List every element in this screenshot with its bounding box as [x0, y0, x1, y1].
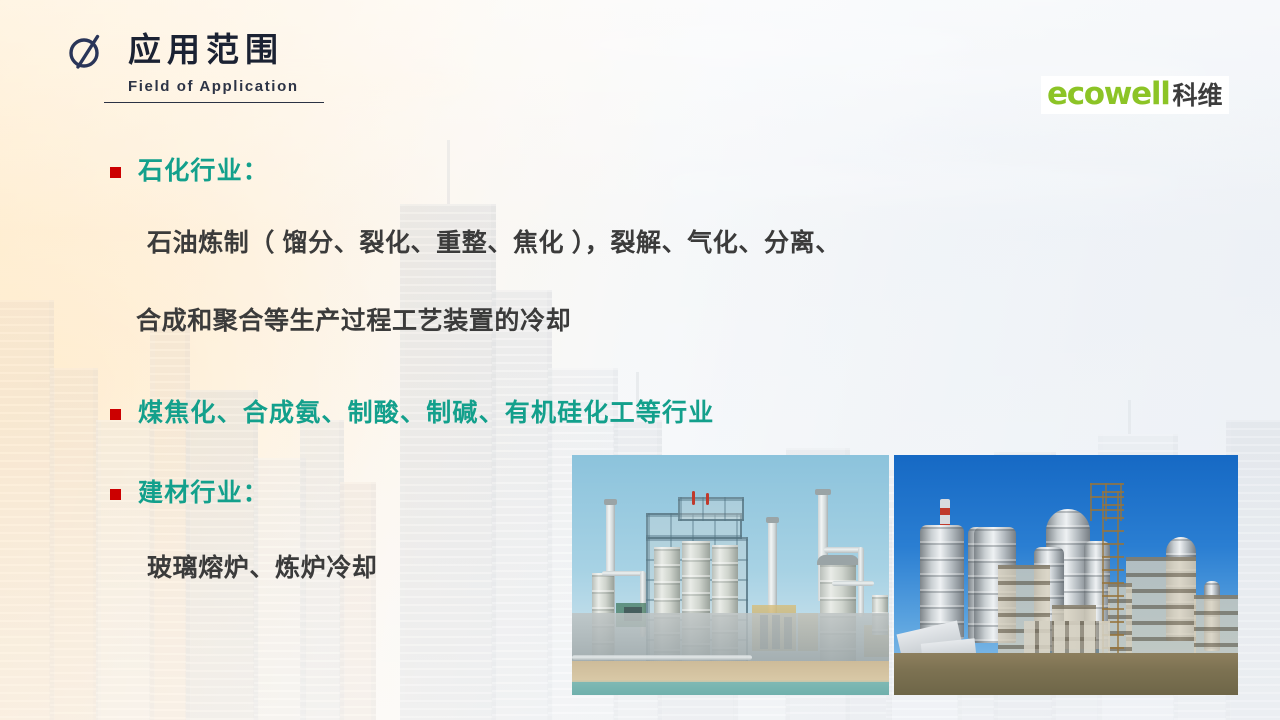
- bullet-square-icon: [110, 167, 121, 178]
- list-item: 玻璃熔炉、炼炉冷却: [147, 553, 377, 583]
- chemical-plant-photo: [894, 455, 1238, 695]
- list-item-label: 建材行业：: [138, 478, 269, 508]
- slide: 应用范围 Field of Application ecowell 科维 石化行…: [0, 0, 1280, 720]
- logo-wordmark: ecowell: [1047, 79, 1170, 110]
- list-item: 合成和聚合等生产过程工艺装置的冷却: [136, 306, 571, 336]
- bullet-square-icon: [110, 409, 121, 420]
- slide-header: 应用范围 Field of Application: [66, 28, 486, 103]
- list-item: 石油炼制（ 馏分、裂化、重整、焦化 ），裂解、气化、分离、: [147, 228, 841, 258]
- list-item: 煤焦化、合成氨、制酸、制碱、有机硅化工等行业: [110, 398, 714, 428]
- page-subtitle: Field of Application: [128, 78, 486, 95]
- list-item-label: 石油炼制（ 馏分、裂化、重整、焦化 ），裂解、气化、分离、: [147, 228, 841, 258]
- list-item-label: 玻璃熔炉、炼炉冷却: [147, 553, 377, 583]
- list-item-label: 合成和聚合等生产过程工艺装置的冷却: [136, 306, 571, 336]
- header-divider: [104, 102, 324, 103]
- slashed-circle-icon: [66, 28, 106, 72]
- logo-chinese-name: 科维: [1173, 84, 1223, 109]
- bullet-square-icon: [110, 489, 121, 500]
- photo-ground: [894, 653, 1238, 695]
- list-item-label: 煤焦化、合成氨、制酸、制碱、有机硅化工等行业: [138, 398, 714, 428]
- photo-ground-strip: [572, 682, 889, 695]
- list-item-label: 石化行业：: [138, 156, 269, 186]
- petrochemical-refinery-photo: [572, 455, 889, 695]
- brand-logo: ecowell 科维: [1041, 76, 1229, 114]
- list-item: 石化行业：: [110, 156, 269, 186]
- list-item: 建材行业：: [110, 478, 269, 508]
- page-title: 应用范围: [128, 32, 284, 68]
